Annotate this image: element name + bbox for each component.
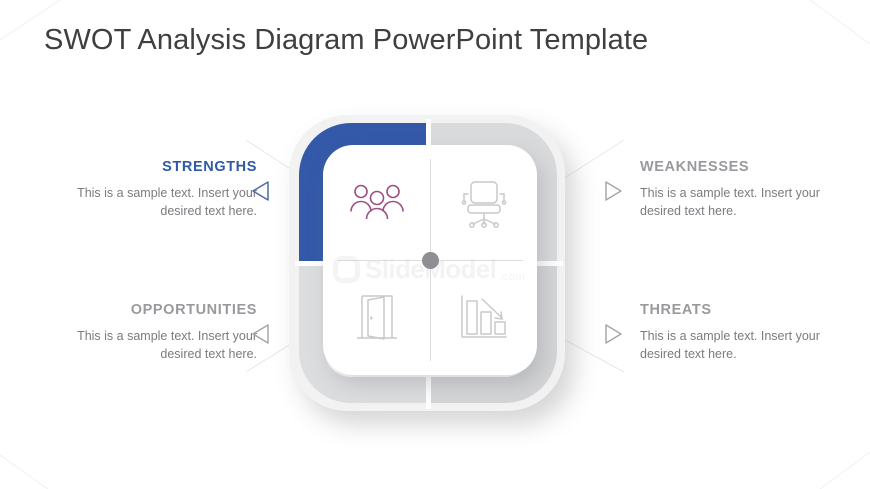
opportunities-body: This is a sample text. Insert your desir…: [52, 327, 257, 363]
arrow-marker-threats[interactable]: [604, 323, 623, 345]
triangle-right-icon: [604, 180, 623, 202]
weaknesses-heading: WEAKNESSES: [640, 159, 845, 175]
quadrant-icon-weaknesses[interactable]: [430, 145, 537, 260]
swot-block-opportunities: OPPORTUNITIES This is a sample text. Ins…: [52, 302, 257, 363]
swot-diagram: SlideModel .com: [281, 107, 581, 427]
weaknesses-body: This is a sample text. Insert your desir…: [640, 184, 845, 220]
center-hub-dot: [422, 252, 439, 269]
people-group-icon: [348, 182, 406, 224]
swot-block-threats: THREATS This is a sample text. Insert yo…: [640, 302, 845, 363]
opportunities-heading: OPPORTUNITIES: [52, 302, 257, 318]
swot-block-strengths: STRENGTHS This is a sample text. Insert …: [52, 159, 257, 220]
page-title: SWOT Analysis Diagram PowerPoint Templat…: [44, 24, 648, 57]
threats-heading: THREATS: [640, 302, 845, 318]
declining-bar-chart-icon: [458, 293, 510, 343]
strengths-heading: STRENGTHS: [52, 159, 257, 175]
quadrant-icon-strengths[interactable]: [323, 145, 430, 260]
quadrant-icon-threats[interactable]: [430, 260, 537, 375]
threats-body: This is a sample text. Insert your desir…: [640, 327, 845, 363]
arrow-marker-strengths[interactable]: [251, 180, 270, 202]
triangle-left-icon: [251, 323, 270, 345]
arrow-marker-weaknesses[interactable]: [604, 180, 623, 202]
open-door-icon: [353, 292, 401, 344]
strengths-body: This is a sample text. Insert your desir…: [52, 184, 257, 220]
arrow-marker-opportunities[interactable]: [251, 323, 270, 345]
triangle-right-icon: [604, 323, 623, 345]
inner-icon-card: SlideModel .com: [323, 145, 537, 375]
quadrant-icon-opportunities[interactable]: [323, 260, 430, 375]
swot-block-weaknesses: WEAKNESSES This is a sample text. Insert…: [640, 159, 845, 220]
triangle-left-icon: [251, 180, 270, 202]
office-chair-icon: [460, 178, 508, 228]
